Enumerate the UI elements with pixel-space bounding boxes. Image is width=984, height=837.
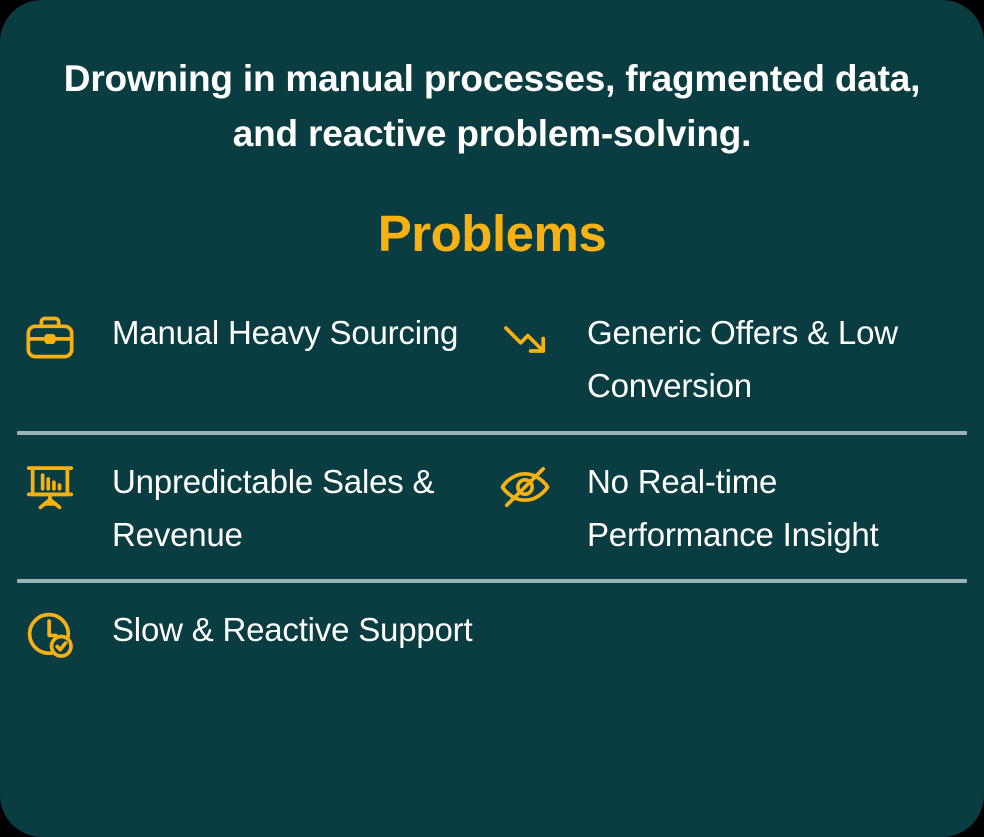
problem-item-slow-reactive-support[interactable]: Slow & Reactive Support [17,597,967,665]
divider [17,579,967,583]
section-title: Problems [0,162,984,262]
trending-down-icon [499,312,551,364]
problem-item-no-realtime-performance-insight[interactable]: No Real-time Performance Insight [492,449,967,566]
clock-check-icon [24,609,76,661]
problems-list: Manual Heavy Sourcing Generic Offers & L… [0,300,984,666]
problem-item-label: Generic Offers & Low Conversion [587,304,967,413]
briefcase-icon [24,312,76,364]
problem-item-generic-offers-low-conversion[interactable]: Generic Offers & Low Conversion [492,300,967,417]
problem-item-unpredictable-sales-revenue[interactable]: Unpredictable Sales & Revenue [17,449,492,566]
headline: Drowning in manual processes, fragmented… [0,0,984,162]
presentation-chart-icon [24,461,76,513]
problem-item-label: Slow & Reactive Support [112,601,472,656]
problem-item-label: Manual Heavy Sourcing [112,304,458,359]
problems-row: Unpredictable Sales & Revenue No Real-ti… [17,449,967,566]
divider [17,431,967,435]
problem-item-manual-heavy-sourcing[interactable]: Manual Heavy Sourcing [17,300,492,368]
problems-row: Manual Heavy Sourcing Generic Offers & L… [17,300,967,417]
problem-item-label: No Real-time Performance Insight [587,453,967,562]
problems-card: Drowning in manual processes, fragmented… [0,0,984,837]
eye-off-icon [499,461,551,513]
problem-item-label: Unpredictable Sales & Revenue [112,453,492,562]
problems-row: Slow & Reactive Support [17,597,967,665]
